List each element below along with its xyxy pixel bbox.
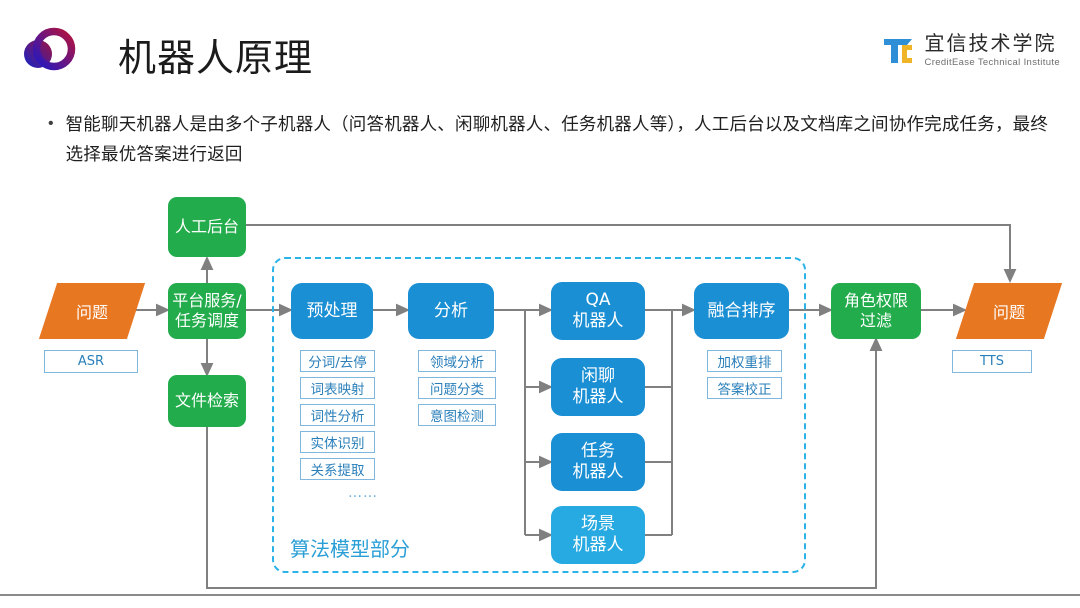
bullet-marker: •: [48, 110, 54, 170]
tc-monogram-icon: [882, 35, 916, 67]
tag-preprocess-3: 词性分析: [300, 404, 375, 426]
tag-tts: TTS: [952, 350, 1032, 373]
bullet-text: 智能聊天机器人是由多个子机器人（问答机器人、闲聊机器人、任务机器人等），人工后台…: [66, 110, 1053, 170]
node-role-filter[interactable]: 角色权限 过滤: [831, 283, 921, 339]
node-platform-service[interactable]: 平台服务/ 任务调度: [168, 283, 246, 339]
tag-preprocess-1: 分词/去停: [300, 350, 375, 372]
node-task-robot[interactable]: 任务 机器人: [551, 433, 645, 491]
node-output-question[interactable]: 问题: [965, 283, 1053, 339]
tag-fusion-2: 答案校正: [707, 377, 782, 399]
node-qa-robot[interactable]: QA 机器人: [551, 282, 645, 340]
node-fusion-rank[interactable]: 融合排序: [694, 283, 789, 339]
tag-analysis-3: 意图检测: [418, 404, 496, 426]
node-scene-robot[interactable]: 场景 机器人: [551, 506, 645, 564]
brand-name-en: CreditEase Technical Institute: [925, 57, 1060, 68]
node-file-retrieval[interactable]: 文件检索: [168, 375, 246, 427]
tag-analysis-1: 领域分析: [418, 350, 496, 372]
preprocess-more-dots: ……: [348, 485, 378, 501]
overlapping-circles-logo: [18, 25, 80, 73]
algorithm-region-label: 算法模型部分: [290, 533, 410, 562]
bullet-paragraph: • 智能聊天机器人是由多个子机器人（问答机器人、闲聊机器人、任务机器人等），人工…: [48, 110, 1053, 170]
node-chat-robot[interactable]: 闲聊 机器人: [551, 358, 645, 416]
tag-asr: ASR: [44, 350, 138, 373]
tag-analysis-2: 问题分类: [418, 377, 496, 399]
node-human-backend[interactable]: 人工后台: [168, 197, 246, 257]
tag-preprocess-2: 词表映射: [300, 377, 375, 399]
architecture-diagram: 问题 ASR 人工后台 平台服务/ 任务调度 文件检索 算法模型部分 预处理 分…: [0, 185, 1080, 595]
brand-lockup: 宜信技术学院 CreditEase Technical Institute: [882, 28, 1060, 74]
footer-divider: [0, 594, 1080, 596]
node-analysis[interactable]: 分析: [408, 283, 494, 339]
tag-preprocess-4: 实体识别: [300, 431, 375, 453]
slide-canvas: 机器人原理 宜信技术学院 CreditEase Technical Instit…: [0, 0, 1080, 608]
node-preprocess[interactable]: 预处理: [291, 283, 373, 339]
tag-fusion-1: 加权重排: [707, 350, 782, 372]
node-input-question[interactable]: 问题: [48, 283, 136, 339]
page-title: 机器人原理: [118, 27, 313, 82]
tag-preprocess-5: 关系提取: [300, 458, 375, 480]
brand-name-cn: 宜信技术学院: [925, 33, 1060, 54]
